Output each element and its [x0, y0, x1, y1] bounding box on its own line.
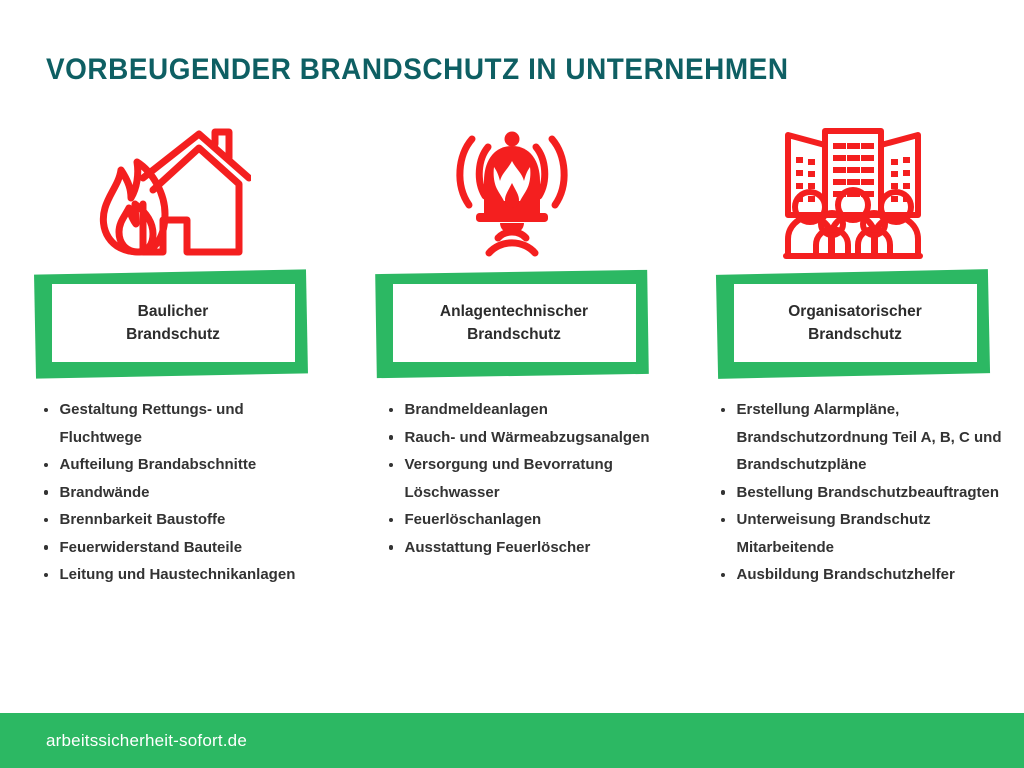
column-baulicher-brandschutz: Baulicher Brandschutz Gestaltung Rettung… — [0, 118, 341, 589]
column-organisatorischer-brandschutz: Organisatorischer Brandschutz Erstellung… — [682, 118, 1023, 589]
list-item: Ausstattung Feuerlöscher — [383, 534, 655, 562]
bullet-list-baulicher: Gestaltung Rettungs- und Fluchtwege Auft… — [38, 396, 310, 589]
label-line-1: Anlagentechnischer — [440, 303, 588, 320]
list-item: Feuerwiderstand Bauteile — [38, 534, 310, 562]
label-text: Baulicher Brandschutz — [120, 300, 226, 346]
label-inner: Organisatorischer Brandschutz — [734, 284, 977, 362]
label-box-anlagentechnischer: Anlagentechnischer Brandschutz — [376, 272, 648, 376]
fire-alarm-bell-icon — [341, 118, 682, 268]
people-and-buildings-icon — [682, 118, 1023, 268]
label-inner: Baulicher Brandschutz — [52, 284, 295, 362]
label-line-1: Baulicher — [138, 303, 209, 320]
label-line-2: Brandschutz — [126, 326, 220, 343]
list-item: Brandwände — [38, 479, 310, 507]
footer-website-url[interactable]: arbeitssicherheit-sofort.de — [46, 731, 247, 751]
bullet-list-anlagentechnischer: Brandmeldeanlagen Rauch- und Wärmeabzugs… — [383, 396, 655, 561]
label-box-baulicher: Baulicher Brandschutz — [35, 272, 307, 376]
label-box-organisatorischer: Organisatorischer Brandschutz — [717, 272, 989, 376]
label-line-1: Organisatorischer — [788, 303, 922, 320]
list-item: Brandmeldeanlagen — [383, 396, 655, 424]
label-line-2: Brandschutz — [808, 326, 902, 343]
list-item: Bestellung Brandschutzbeauftragten — [715, 479, 1005, 507]
label-inner: Anlagentechnischer Brandschutz — [393, 284, 636, 362]
list-item: Versorgung und Bevorratung Löschwasser — [383, 451, 655, 506]
list-item: Brennbarkeit Baustoffe — [38, 506, 310, 534]
list-item: Feuerlöschanlagen — [383, 506, 655, 534]
list-item: Aufteilung Brandabschnitte — [38, 451, 310, 479]
footer-bar: arbeitssicherheit-sofort.de — [0, 713, 1024, 768]
column-anlagentechnischer-brandschutz: Anlagentechnischer Brandschutz Brandmeld… — [341, 118, 682, 561]
label-text: Anlagentechnischer Brandschutz — [434, 300, 594, 346]
list-item: Rauch- und Wärmeabzugsanalgen — [383, 424, 655, 452]
house-on-fire-icon — [0, 118, 341, 268]
list-item: Erstellung Alarmpläne, Brandschutzordnun… — [715, 396, 1005, 479]
label-text: Organisatorischer Brandschutz — [782, 300, 928, 346]
page-title: VORBEUGENDER BRANDSCHUTZ IN UNTERNEHMEN — [46, 52, 789, 88]
label-line-2: Brandschutz — [467, 326, 561, 343]
list-item: Ausbildung Brandschutzhelfer — [715, 561, 1005, 589]
list-item: Gestaltung Rettungs- und Fluchtwege — [38, 396, 310, 451]
list-item: Leitung und Haustechnikanlagen — [38, 561, 310, 589]
bullet-list-organisatorischer: Erstellung Alarmpläne, Brandschutzordnun… — [715, 396, 1005, 589]
list-item: Unterweisung Brandschutz Mitarbeitende — [715, 506, 1005, 561]
columns-container: Baulicher Brandschutz Gestaltung Rettung… — [0, 118, 1024, 589]
